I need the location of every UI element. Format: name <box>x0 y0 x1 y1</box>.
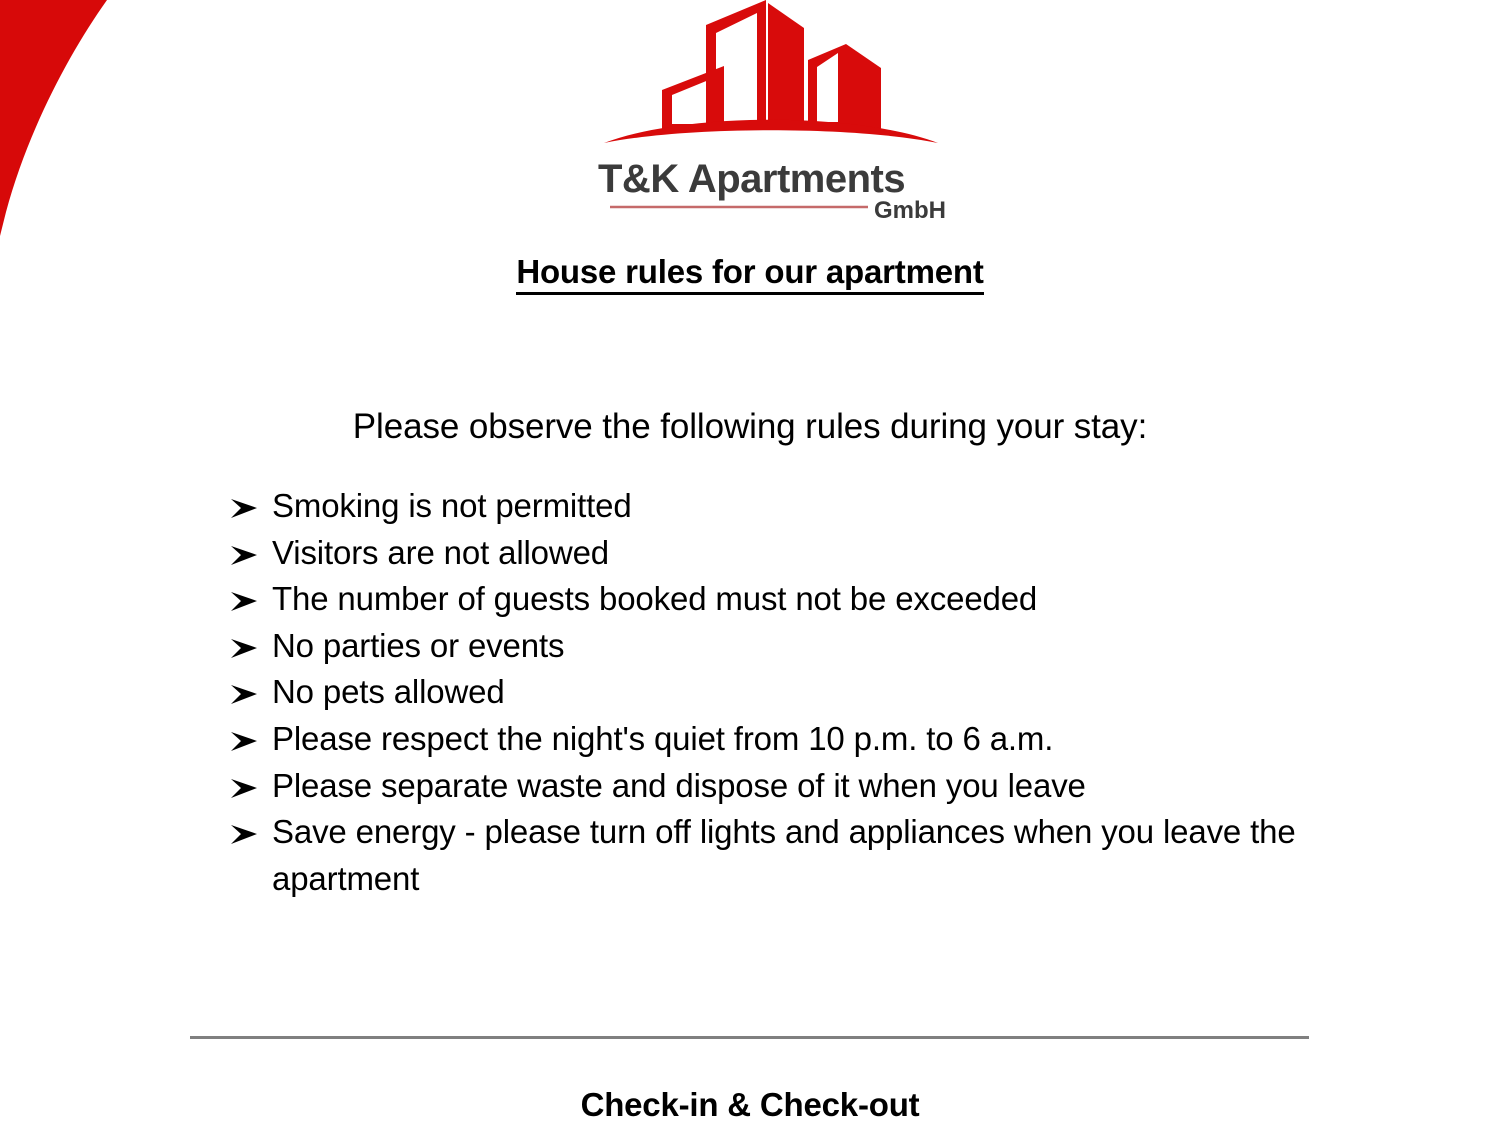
arrowhead-bullet-icon <box>228 669 262 715</box>
intro-text: Please observe the following rules durin… <box>0 407 1500 447</box>
list-item-label: Save energy - please turn off lights and… <box>272 813 1296 897</box>
house-rules-list: Smoking is not permitted Visitors are no… <box>228 483 1408 902</box>
arrowhead-bullet-icon <box>228 530 262 576</box>
red-corner-swoosh-icon <box>0 0 210 240</box>
list-item-label: No pets allowed <box>272 673 505 710</box>
brand-logo: T&K Apartments GmbH <box>596 0 946 228</box>
footer-heading: Check-in & Check-out <box>0 1086 1500 1124</box>
brand-wordmark: T&K Apartments GmbH <box>596 150 946 228</box>
arrowhead-bullet-icon <box>228 763 262 809</box>
list-item-label: Please respect the night's quiet from 10… <box>272 720 1053 757</box>
list-item-label: The number of guests booked must not be … <box>272 580 1037 617</box>
svg-text:T&K Apartments: T&K Apartments <box>598 157 905 201</box>
arrowhead-bullet-icon <box>228 809 262 855</box>
arrowhead-bullet-icon <box>228 576 262 622</box>
list-item-label: Please separate waste and dispose of it … <box>272 767 1086 804</box>
page-title: House rules for our apartment <box>0 253 1500 291</box>
arrowhead-bullet-icon <box>228 483 262 529</box>
list-item-label: Smoking is not permitted <box>272 487 632 524</box>
list-item-label: No parties or events <box>272 627 564 664</box>
svg-text:GmbH: GmbH <box>874 197 946 224</box>
list-item: Visitors are not allowed <box>228 530 1408 577</box>
page-title-text: House rules for our apartment <box>516 253 983 295</box>
list-item: No parties or events <box>228 623 1408 670</box>
list-item: Save energy - please turn off lights and… <box>228 809 1408 902</box>
list-item: Smoking is not permitted <box>228 483 1408 530</box>
skyline-buildings-icon <box>596 0 946 150</box>
list-item: Please separate waste and dispose of it … <box>228 763 1408 810</box>
list-item: Please respect the night's quiet from 10… <box>228 716 1408 763</box>
list-item-label: Visitors are not allowed <box>272 534 609 571</box>
section-divider <box>190 1036 1309 1039</box>
list-item: No pets allowed <box>228 669 1408 716</box>
arrowhead-bullet-icon <box>228 716 262 762</box>
arrowhead-bullet-icon <box>228 623 262 669</box>
slide-canvas: T&K Apartments GmbH House rules for our … <box>0 0 1500 1125</box>
list-item: The number of guests booked must not be … <box>228 576 1408 623</box>
